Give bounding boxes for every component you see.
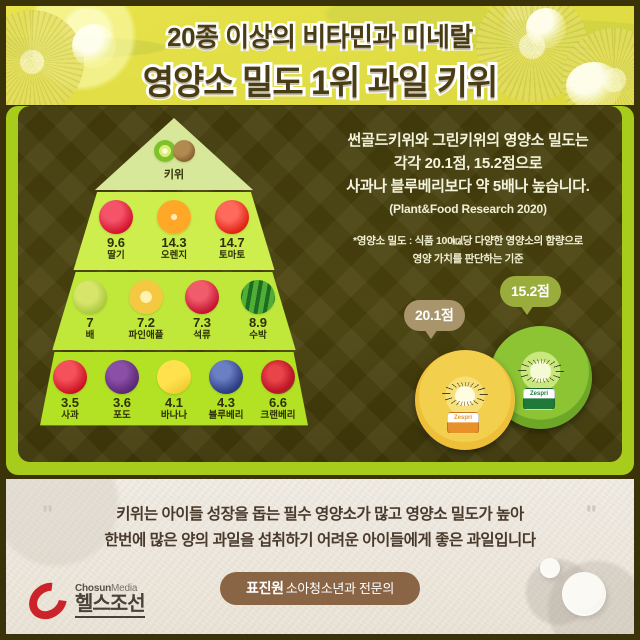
cranberry-icon xyxy=(261,360,295,394)
intro-source: (Plant&Food Research 2020) xyxy=(318,202,618,216)
nutrient-density-pyramid: 키위 9.6 딸기 14.3 오렌지 xyxy=(40,118,308,448)
banana-icon xyxy=(157,360,191,394)
logo-chosun: Chosun xyxy=(75,583,111,594)
strawberry-icon xyxy=(99,200,133,234)
expert-name: 표진원 xyxy=(246,580,284,596)
item-name: 오렌지 xyxy=(145,250,203,262)
pyramid-item-pear: 7 배 xyxy=(62,280,118,342)
item-name: 블루베리 xyxy=(200,410,252,422)
green-kiwi-score-badge: 15.2점 xyxy=(500,276,561,307)
tomato-icon xyxy=(215,200,249,234)
green-score-value: 15.2점 xyxy=(511,283,550,299)
zespri-label-gold: Zespri xyxy=(447,412,479,434)
pyramid-item-kiwi: 키위 xyxy=(154,140,195,182)
grape-icon xyxy=(105,360,139,394)
title-line-2: 영양소 밀도 1위 과일 키위 xyxy=(6,55,634,104)
footnote-line-2: 영양 가치를 판단하는 기준 xyxy=(318,251,618,269)
pyramid-item-pomegranate: 7.3 석류 xyxy=(174,280,230,342)
item-name: 포도 xyxy=(96,410,148,422)
expert-attribution-pill: 표진원소아청소년과 전문의 xyxy=(220,572,420,605)
item-name: 크랜베리 xyxy=(252,410,304,422)
pyramid-item-watermelon: 8.9 수박 xyxy=(230,280,286,342)
logo-c-mark-icon xyxy=(22,575,74,626)
item-value: 7.2 xyxy=(118,316,174,330)
logo-brand-ko: 헬스조선 xyxy=(75,594,145,618)
item-value: 14.3 xyxy=(145,236,203,250)
item-value: 14.7 xyxy=(203,236,261,250)
intro-text-block: 썬골드키위와 그린키위의 영양소 밀도는 각각 20.1점, 15.2점으로 사… xyxy=(318,130,618,269)
orange-icon xyxy=(157,200,191,234)
kiwi-whole-icon xyxy=(173,140,195,162)
item-name: 배 xyxy=(62,330,118,342)
item-value: 6.6 xyxy=(252,396,304,410)
item-value: 7 xyxy=(62,316,118,330)
pineapple-icon xyxy=(129,280,163,314)
chosun-media-logo: ChosunMedia 헬스조선 xyxy=(28,584,145,619)
item-name: 사과 xyxy=(44,410,96,422)
item-name: 수박 xyxy=(230,330,286,342)
gold-score-value: 20.1점 xyxy=(415,307,454,323)
infographic-page: 20종 이상의 비타민과 미네랄 영양소 밀도 1위 과일 키위 키위 xyxy=(0,0,640,640)
pyramid-item-grape: 3.6 포도 xyxy=(96,360,148,422)
item-name: 토마토 xyxy=(203,250,261,262)
pyramid-item-banana: 4.1 바나나 xyxy=(148,360,200,422)
pyramid-item-blueberry: 4.3 블루베리 xyxy=(200,360,252,422)
item-value: 4.3 xyxy=(200,396,252,410)
gold-kiwi-photo: Zespri xyxy=(415,350,515,450)
circle-decor-icon xyxy=(540,558,560,578)
kiwi-seeds-decor xyxy=(442,382,488,406)
pyramid-tier-3: 7 배 7.2 파인애플 7.3 석류 8.9 xyxy=(40,272,308,350)
expert-role: 소아청소년과 전문의 xyxy=(286,581,394,596)
pyramid-item-pineapple: 7.2 파인애플 xyxy=(118,280,174,342)
quote-line-2: 한번에 많은 양의 과일을 섭취하기 어려운 아이들에게 좋은 과일입니다 xyxy=(6,528,634,554)
item-name: 파인애플 xyxy=(118,330,174,342)
gold-kiwi-score-badge: 20.1점 xyxy=(404,300,465,331)
pyramid-item-apple: 3.5 사과 xyxy=(44,360,96,422)
intro-line-2: 각각 20.1점, 15.2점으로 xyxy=(318,153,618,176)
pyramid-item-cranberry: 6.6 크랜베리 xyxy=(252,360,304,422)
pyramid-tier-4: 3.5 사과 3.6 포도 4.1 바나나 4 xyxy=(40,352,308,430)
item-name: 딸기 xyxy=(87,250,145,262)
pomegranate-icon xyxy=(185,280,219,314)
item-name: 바나나 xyxy=(148,410,200,422)
apple-icon xyxy=(53,360,87,394)
item-value: 7.3 xyxy=(174,316,230,330)
blueberry-icon xyxy=(209,360,243,394)
watermelon-icon xyxy=(241,280,275,314)
pear-icon xyxy=(73,280,107,314)
quote-section: " " 키위는 아이들 성장을 돕는 필수 영양소가 많고 영양소 밀도가 높아… xyxy=(6,479,634,634)
pyramid-item-orange: 14.3 오렌지 xyxy=(145,200,203,262)
footnote: *영양소 밀도 : 식품 100㎉당 다양한 영양소의 함량으로 영양 가치를 … xyxy=(318,233,618,268)
pyramid-item-tomato: 14.7 토마토 xyxy=(203,200,261,262)
footnote-line-1: *영양소 밀도 : 식품 100㎉당 다양한 영양소의 함량으로 xyxy=(318,233,618,251)
header-banner: 20종 이상의 비타민과 미네랄 영양소 밀도 1위 과일 키위 xyxy=(6,6,634,105)
item-value: 3.6 xyxy=(96,396,148,410)
intro-line-3: 사과나 블루베리보다 약 5배나 높습니다. xyxy=(318,176,618,199)
quote-text: 키위는 아이들 성장을 돕는 필수 영양소가 많고 영양소 밀도가 높아 한번에… xyxy=(6,502,634,554)
quote-line-1: 키위는 아이들 성장을 돕는 필수 영양소가 많고 영양소 밀도가 높아 xyxy=(6,502,634,528)
pyramid-item-strawberry: 9.6 딸기 xyxy=(87,200,145,262)
item-name: 석류 xyxy=(174,330,230,342)
page-title: 20종 이상의 비타민과 미네랄 영양소 밀도 1위 과일 키위 xyxy=(6,6,634,104)
pyramid-tier-1: 키위 xyxy=(40,118,308,190)
item-value: 4.1 xyxy=(148,396,200,410)
item-value: 8.9 xyxy=(230,316,286,330)
intro-line-1: 썬골드키위와 그린키위의 영양소 밀도는 xyxy=(318,130,618,153)
pyramid-tier-2: 9.6 딸기 14.3 오렌지 14.7 토마토 xyxy=(40,192,308,270)
zespri-label-green: Zespri xyxy=(523,388,555,410)
circle-decor-icon xyxy=(562,572,606,616)
item-value: 3.5 xyxy=(44,396,96,410)
kiwi-seeds-decor xyxy=(518,359,564,383)
item-value: 9.6 xyxy=(87,236,145,250)
pyramid-apex-label: 키위 xyxy=(154,166,195,182)
logo-media: Media xyxy=(111,583,137,594)
title-line-1: 20종 이상의 비타민과 미네랄 xyxy=(6,17,634,54)
